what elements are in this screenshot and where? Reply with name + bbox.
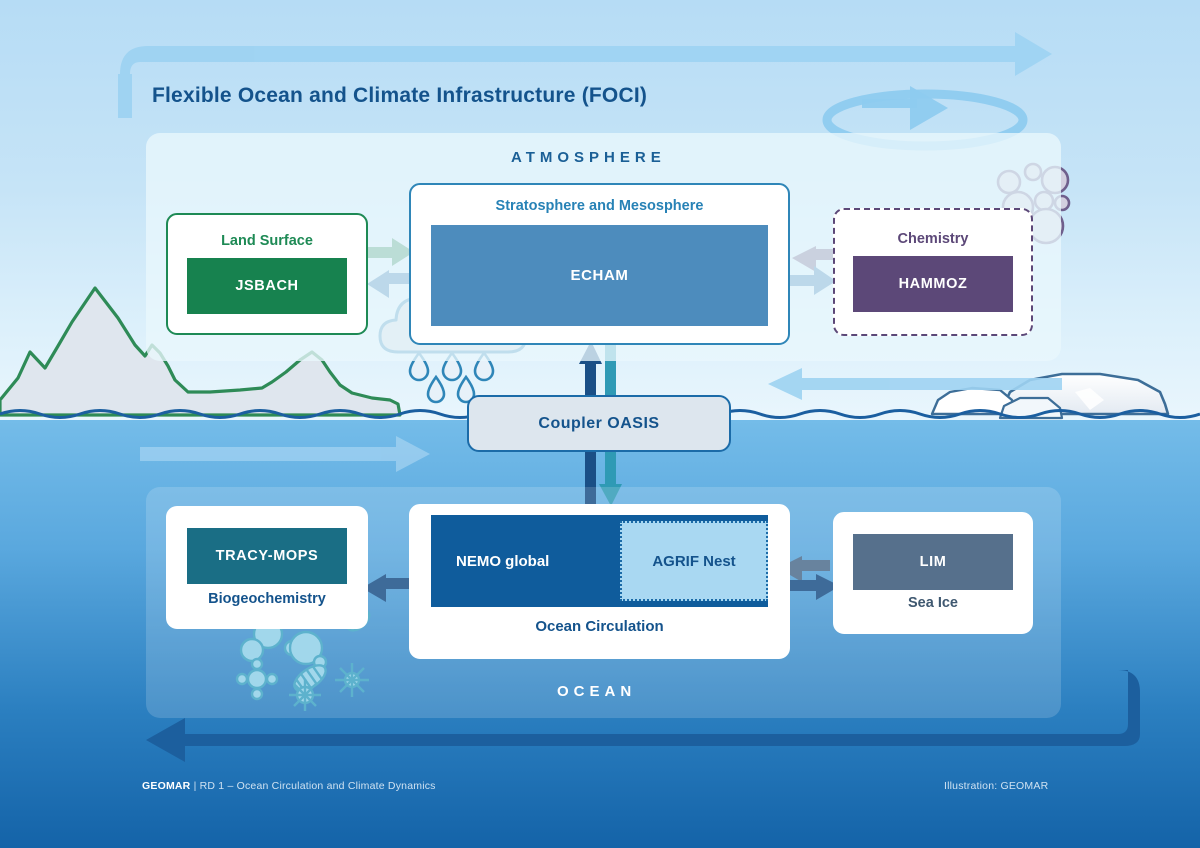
land-surface-box[interactable]: Land Surface JSBACH: [166, 213, 368, 335]
jsbach-model-chip[interactable]: JSBACH: [187, 258, 347, 314]
ocean-label: OCEAN: [557, 683, 636, 700]
stratosphere-title: Stratosphere and Mesosphere: [496, 199, 704, 215]
hammoz-model-chip[interactable]: HAMMOZ: [853, 256, 1013, 312]
biogeochemistry-box[interactable]: TRACY-MOPS Biogeochemistry: [166, 506, 368, 629]
ocean-circulation-box[interactable]: NEMO global AGRIF Nest Ocean Circulation: [409, 504, 790, 659]
upper-ocean-flow-arrow: [140, 436, 430, 472]
nemo-global-chip[interactable]: NEMO global AGRIF Nest: [431, 515, 768, 607]
page-title: Flexible Ocean and Climate Infrastructur…: [152, 84, 647, 108]
echam-model-chip[interactable]: ECHAM: [431, 225, 768, 326]
ocean-circulation-title: Ocean Circulation: [535, 619, 663, 636]
foci-diagram: Flexible Ocean and Climate Infrastructur…: [0, 0, 1200, 848]
sea-ice-box[interactable]: LIM Sea Ice: [833, 512, 1033, 634]
footer-illustration-credit: Illustration: GEOMAR: [944, 780, 1048, 792]
coupler-box[interactable]: Coupler OASIS: [467, 395, 731, 452]
chemistry-box[interactable]: Chemistry HAMMOZ: [833, 208, 1033, 336]
footer-org: GEOMAR: [142, 780, 190, 792]
tracy-mops-model-chip[interactable]: TRACY-MOPS: [187, 528, 347, 584]
atmosphere-label: ATMOSPHERE: [511, 149, 666, 166]
sea-ice-title: Sea Ice: [908, 596, 958, 612]
agrif-nest-chip[interactable]: AGRIF Nest: [620, 521, 768, 601]
nemo-global-label: NEMO global: [456, 553, 549, 570]
footer-department: | RD 1 – Ocean Circulation and Climate D…: [190, 780, 435, 792]
stratosphere-box[interactable]: Stratosphere and Mesosphere ECHAM: [409, 183, 790, 345]
land-surface-title: Land Surface: [221, 234, 313, 250]
biogeochemistry-title: Biogeochemistry: [208, 592, 326, 608]
chemistry-title: Chemistry: [898, 232, 969, 248]
coupler-title: Coupler OASIS: [538, 415, 659, 433]
footer-credit: GEOMAR | RD 1 – Ocean Circulation and Cl…: [142, 780, 436, 792]
lim-model-chip[interactable]: LIM: [853, 534, 1013, 590]
